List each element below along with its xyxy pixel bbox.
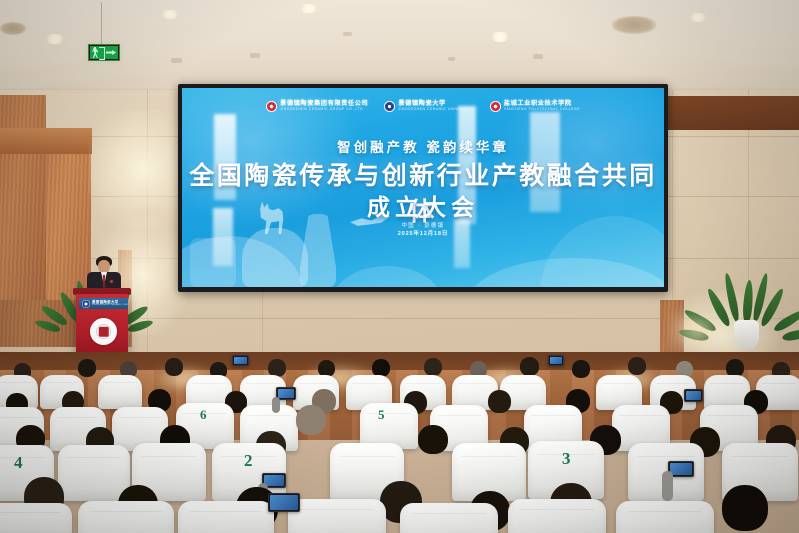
chair-number: 6 — [200, 407, 207, 423]
led-screen-frame: 景德镇陶瓷集团有限责任公司 JINGDEZHEN CERAMIC GROUP C… — [178, 84, 668, 292]
audience-head — [78, 359, 96, 377]
audience-head — [165, 358, 183, 376]
podium-label-en: JINGDEZHEN CERAMIC UNIVERSITY — [92, 304, 128, 306]
logo-jingdezhen-ceramic-university: 景德镇陶瓷大学 JINGDEZHEN CERAMIC UNIVERSITY — [384, 101, 473, 112]
chair — [616, 501, 714, 533]
ceiling-vent — [0, 22, 26, 35]
logo-label-en: JINGDEZHEN CERAMIC UNIVERSITY — [398, 108, 473, 111]
audience-area: 6 5 4 2 3 — [0, 345, 799, 533]
navy-crest-icon — [384, 101, 395, 112]
chair — [0, 503, 72, 533]
ceiling-vent — [612, 16, 656, 34]
chair-number: 5 — [378, 407, 385, 423]
red-seal-icon — [266, 101, 277, 112]
audience-phone[interactable] — [232, 355, 249, 366]
exit-sign — [88, 44, 120, 61]
chair-number: 3 — [562, 449, 571, 469]
ceiling-sprinkler — [448, 57, 455, 61]
red-seal-icon — [490, 101, 501, 112]
university-crest-icon — [82, 300, 90, 308]
chair — [78, 501, 174, 533]
audience-head — [424, 358, 442, 376]
chair — [58, 445, 130, 501]
partner-logos: 景德镇陶瓷集团有限责任公司 JINGDEZHEN CERAMIC GROUP C… — [182, 101, 664, 112]
audience-head — [418, 425, 448, 454]
audience-phone[interactable] — [268, 493, 300, 512]
podium-emblem — [90, 318, 117, 345]
ceiling-speaker — [343, 32, 352, 36]
ceiling-speaker — [250, 53, 260, 58]
exit-door-icon — [99, 47, 105, 60]
screen-place: 中国 · 景德镇 — [182, 221, 664, 229]
chair-number: 2 — [244, 451, 253, 471]
screen-tagline: 智创融产教 瓷韵续华章 — [182, 136, 664, 156]
audience-head — [520, 357, 539, 376]
chair — [288, 499, 386, 533]
audience-head — [722, 485, 768, 531]
screen-date: 2025年12月18日 — [182, 229, 664, 237]
chair-number: 4 — [14, 453, 23, 473]
logo-label-en: JINGDEZHEN CERAMIC GROUP CO.,LTD — [280, 108, 368, 111]
podium-nameplate: 景德镇陶瓷大学 JINGDEZHEN CERAMIC UNIVERSITY — [79, 298, 128, 309]
ceiling-downlight — [489, 32, 511, 42]
ceiling-downlight — [299, 4, 319, 13]
chair — [178, 501, 274, 533]
led-screen[interactable]: 景德镇陶瓷集团有限责任公司 JINGDEZHEN CERAMIC GROUP C… — [182, 88, 664, 287]
audience-phone[interactable] — [684, 389, 703, 402]
audience-arm — [272, 397, 280, 413]
logo-yancheng-polytechnic-college: 盐城工业职业技术学院 YANCHENG POLYTECHNIC COLLEGE — [490, 101, 580, 112]
ceiling-speaker — [533, 54, 543, 59]
speaker-lapel-badge — [110, 280, 113, 283]
ceiling-downlight — [44, 34, 66, 44]
chair — [508, 499, 606, 533]
chair — [98, 375, 142, 409]
ceiling-speaker — [171, 58, 182, 63]
audience-arm — [662, 471, 673, 501]
conference-hall-photo: 景德镇陶瓷集团有限责任公司 JINGDEZHEN CERAMIC GROUP C… — [0, 0, 799, 533]
wood-beam — [0, 128, 92, 154]
logo-jingdezhen-ceramic-group: 景德镇陶瓷集团有限责任公司 JINGDEZHEN CERAMIC GROUP C… — [266, 101, 368, 112]
logo-label-en: YANCHENG POLYTECHNIC COLLEGE — [504, 108, 580, 111]
chair — [400, 503, 498, 533]
ceiling-downlight — [160, 10, 180, 19]
audience-head — [296, 405, 326, 435]
ceramic-silhouette — [332, 266, 442, 287]
audience-head — [488, 390, 511, 413]
audience-head — [628, 357, 646, 375]
audience-head — [572, 360, 590, 378]
screen-sub-title: 成立大会 — [182, 188, 664, 222]
ceiling-downlight — [688, 13, 708, 22]
sign-suspension-cable — [101, 2, 102, 44]
audience-phone[interactable] — [548, 355, 564, 366]
